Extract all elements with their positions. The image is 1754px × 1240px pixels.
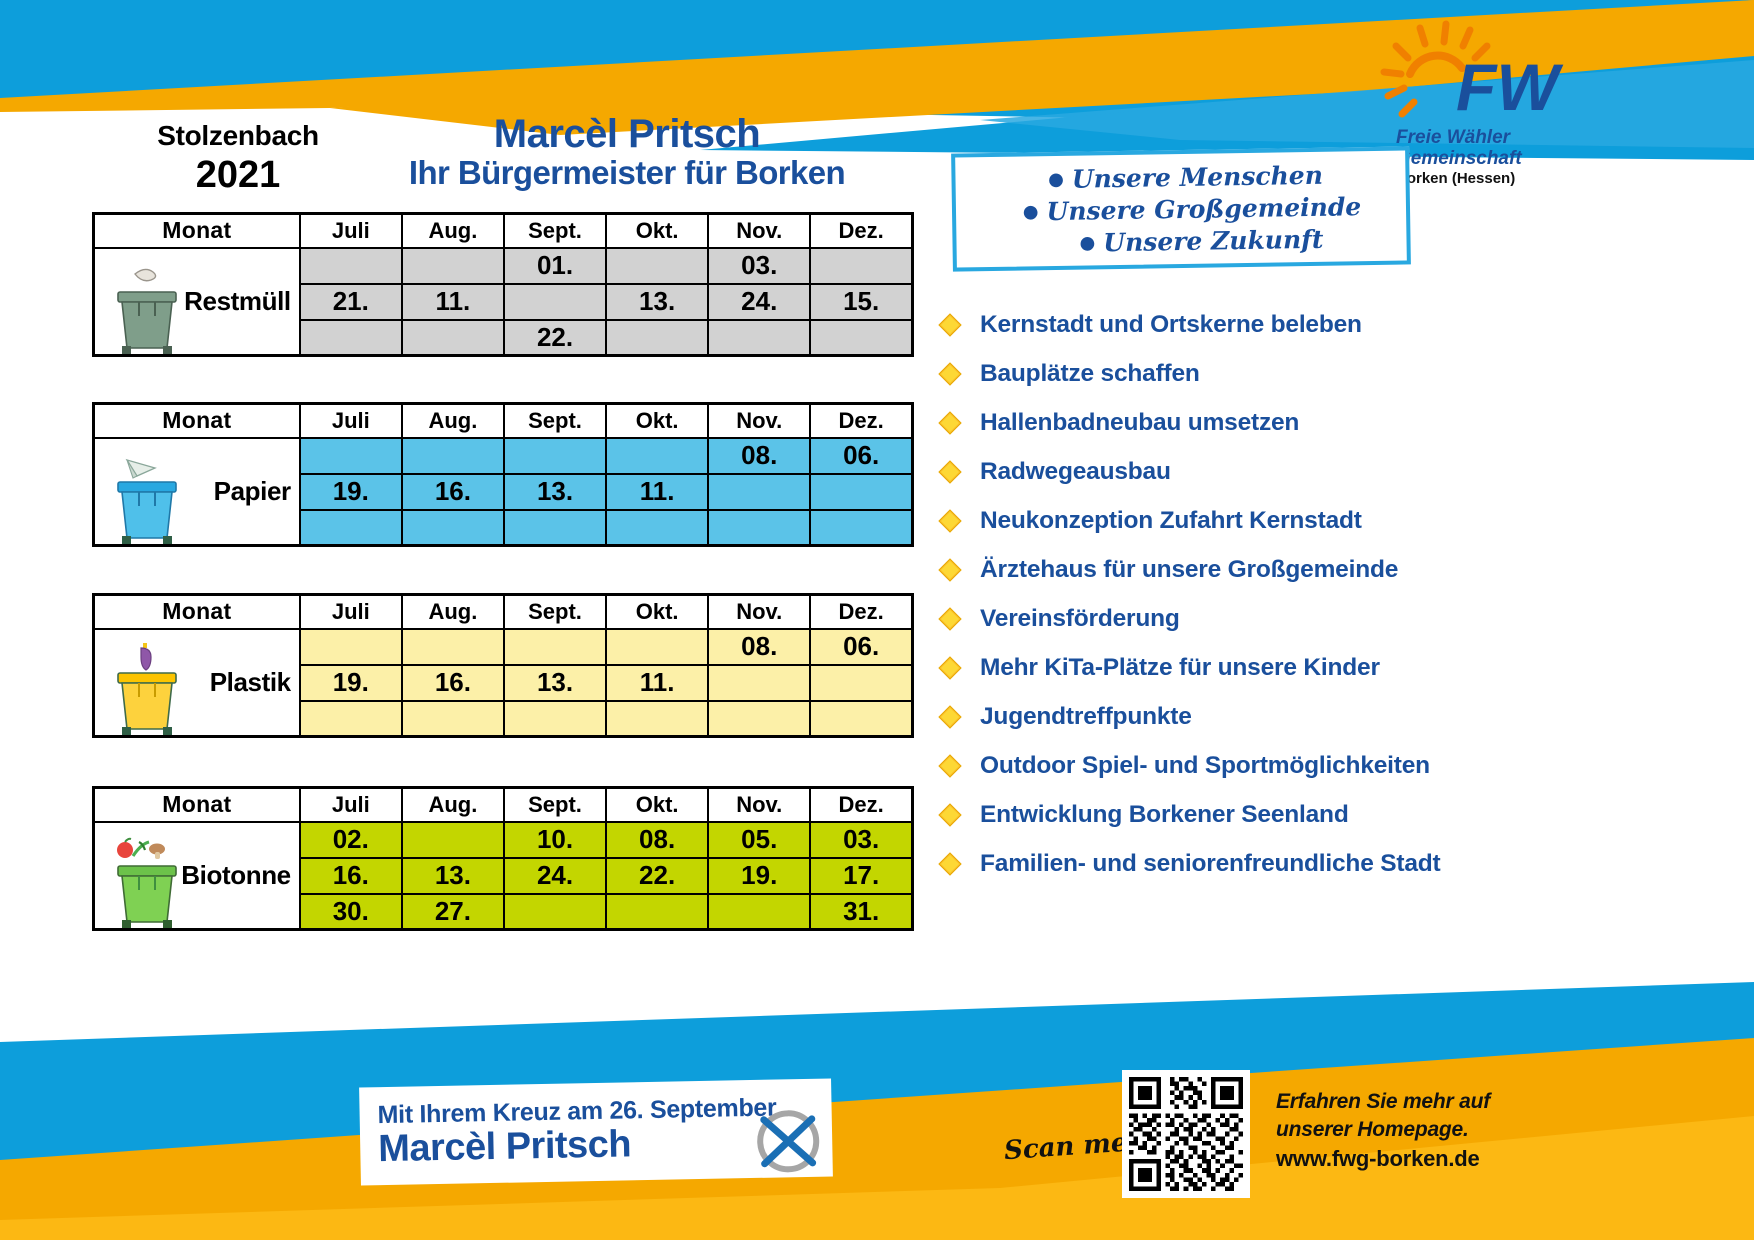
city-name: Stolzenbach [108,120,368,152]
pickup-date-cell: 16. [402,474,504,510]
pickup-date-cell [606,438,708,474]
column-header-monat: Monat [94,214,300,248]
column-header-juli: Juli [300,595,402,629]
waste-table-biotonne: MonatJuliAug.Sept.Okt.Nov.Dez. Biotonne0… [92,786,914,931]
calendar-year: 2021 [108,154,368,197]
pickup-date-cell [402,248,504,284]
column-header-aug: Aug. [402,788,504,822]
diamond-bullet-icon [938,509,962,533]
diamond-bullet-icon [938,558,962,582]
pickup-date-cell [402,701,504,737]
pickup-date-cell: 06. [810,629,912,665]
waste-type-label: Biotonne [181,860,290,890]
fw-line-2: Gemeinschaft [1396,149,1576,170]
vote-callout-box: Mit Ihrem Kreuz am 26. September Marcèl … [359,1078,833,1185]
pickup-date-cell: 13. [504,474,606,510]
goal-label: Vereinsförderung [980,605,1180,633]
goal-label: Mehr KiTa-Plätze für unsere Kinder [980,654,1380,682]
table-header-row: MonatJuliAug.Sept.Okt.Nov.Dez. [94,595,913,629]
column-header-okt: Okt. [606,788,708,822]
pickup-date-cell [606,320,708,356]
diamond-bullet-icon [938,803,962,827]
pickup-date-cell: 16. [300,858,402,894]
poster-page: FW Freie Wähler Gemeinschaft Borken (Hes… [0,0,1754,1240]
pickup-date-cell: 13. [606,284,708,320]
pickup-date-cell: 15. [810,284,912,320]
pickup-date-cell: 03. [708,248,810,284]
fw-logo-subtitle: Freie Wähler Gemeinschaft Borken (Hessen… [1396,128,1576,187]
pickup-date-cell: 11. [402,284,504,320]
goal-item: Bauplätze schaffen [938,349,1728,398]
column-header-dez: Dez. [810,788,912,822]
goal-item: Outdoor Spiel- und Sportmöglichkeiten [938,741,1728,790]
pickup-date-cell [300,438,402,474]
goal-label: Bauplätze schaffen [980,360,1200,388]
waste-table-plastik: MonatJuliAug.Sept.Okt.Nov.Dez. Plastik08… [92,593,914,738]
pickup-date-cell [606,629,708,665]
pickup-date-cell [402,510,504,546]
goal-label: Hallenbadneubau umsetzen [980,409,1299,437]
waste-type-cell-papier: Papier [94,438,300,546]
waste-type-label: Papier [214,476,291,506]
table-header-row: MonatJuliAug.Sept.Okt.Nov.Dez. [94,404,913,438]
pickup-date-cell [504,894,606,930]
bottom-decoration [0,920,1754,1240]
pickup-date-cell [504,629,606,665]
fw-monogram: FW [1456,50,1563,124]
candidate-subtitle: Ihr Bürgermeister für Borken [332,154,922,192]
papier-bin-icon [105,446,191,546]
pickup-date-cell: 03. [810,822,912,858]
waste-type-cell-plastik: Plastik [94,629,300,737]
diamond-bullet-icon [938,656,962,680]
column-header-sept: Sept. [504,214,606,248]
city-block: Stolzenbach 2021 [108,120,368,197]
pickup-date-cell [606,894,708,930]
pickup-date-cell: 08. [606,822,708,858]
ballot-cross-icon [752,1105,825,1178]
goal-item: Radwegeausbau [938,447,1728,496]
homepage-line-1: Erfahren Sie mehr auf [1276,1088,1576,1116]
pickup-date-cell [708,701,810,737]
pickup-date-cell [810,474,912,510]
biotonne-bin-icon [105,830,191,930]
candidate-name: Marcèl Pritsch [332,112,922,157]
plastik-bin-icon [105,637,191,737]
pickup-date-cell [606,248,708,284]
pickup-date-cell: 27. [402,894,504,930]
pickup-date-cell: 08. [708,629,810,665]
goal-item: Ärztehaus für unsere Großgemeinde [938,545,1728,594]
pickup-date-cell [504,701,606,737]
pickup-date-cell: 16. [402,665,504,701]
pickup-date-cell [810,248,912,284]
pickup-date-cell: 30. [300,894,402,930]
goal-item: Kernstadt und Ortskerne beleben [938,300,1728,349]
diamond-bullet-icon [938,852,962,876]
column-header-monat: Monat [94,404,300,438]
pickup-date-cell: 17. [810,858,912,894]
goal-label: Jugendtreffpunkte [980,703,1192,731]
diamond-bullet-icon [938,705,962,729]
bullet-dot-icon: ● [1023,201,1039,222]
pickup-date-cell [708,320,810,356]
table-header-row: MonatJuliAug.Sept.Okt.Nov.Dez. [94,214,913,248]
papier-bin-icon [105,446,191,546]
pickup-date-cell: 11. [606,665,708,701]
column-header-okt: Okt. [606,404,708,438]
pickup-date-cell [504,510,606,546]
slogan-text-3: Unsere Zukunft [1103,225,1324,257]
table-row: Papier08.06. [94,438,913,474]
column-header-nov: Nov. [708,404,810,438]
slogan-text-2: Unsere Großgemeinde [1046,192,1361,226]
pickup-date-cell [300,629,402,665]
goal-label: Radwegeausbau [980,458,1171,486]
column-header-juli: Juli [300,788,402,822]
pickup-date-cell: 13. [402,858,504,894]
pickup-date-cell: 24. [504,858,606,894]
pickup-date-cell [504,438,606,474]
goal-label: Entwicklung Borkener Seenland [980,801,1349,829]
column-header-sept: Sept. [504,788,606,822]
goal-label: Neukonzeption Zufahrt Kernstadt [980,507,1362,535]
goal-item: Neukonzeption Zufahrt Kernstadt [938,496,1728,545]
pickup-date-cell [810,665,912,701]
goal-label: Kernstadt und Ortskerne beleben [980,311,1362,339]
column-header-juli: Juli [300,214,402,248]
slogan-box: ●Unsere Menschen ●Unsere Großgemeinde ●U… [951,146,1411,271]
fw-line-1: Freie Wähler [1396,128,1576,149]
pickup-date-cell [708,510,810,546]
waste-table-papier: MonatJuliAug.Sept.Okt.Nov.Dez. Papier08.… [92,402,914,547]
pickup-date-cell: 22. [504,320,606,356]
goal-label: Ärztehaus für unsere Großgemeinde [980,556,1398,584]
plastik-bin-icon [105,637,191,737]
slogan-text-1: Unsere Menschen [1072,161,1323,194]
pickup-date-cell: 21. [300,284,402,320]
waste-type-label: Restmüll [184,286,291,316]
goal-item: Entwicklung Borkener Seenland [938,790,1728,839]
pickup-date-cell [300,701,402,737]
pickup-date-cell [300,510,402,546]
bullet-dot-icon: ● [1048,169,1064,190]
pickup-date-cell [504,284,606,320]
pickup-date-cell: 19. [300,665,402,701]
scan-me-label: Scan me [1003,1128,1128,1167]
diamond-bullet-icon [938,313,962,337]
pickup-date-cell [402,822,504,858]
goals-list: Kernstadt und Ortskerne belebenBauplätze… [938,300,1728,888]
goal-item: Vereinsförderung [938,594,1728,643]
column-header-dez: Dez. [810,595,912,629]
pickup-date-cell: 19. [300,474,402,510]
table-row: Restmüll01.03. [94,248,913,284]
vote-candidate-name: Marcèl Pritsch [378,1121,778,1172]
goal-item: Familien- und seniorenfreundliche Stadt [938,839,1728,888]
pickup-date-cell: 08. [708,438,810,474]
table-row: Biotonne02.10.08.05.03. [94,822,913,858]
pickup-date-cell [708,665,810,701]
homepage-url[interactable]: www.fwg-borken.de [1276,1144,1576,1173]
homepage-line-2: unserer Homepage. [1276,1116,1576,1144]
pickup-date-cell [810,320,912,356]
goal-label: Familien- und seniorenfreundliche Stadt [980,850,1440,878]
pickup-date-cell [810,701,912,737]
column-header-nov: Nov. [708,595,810,629]
pickup-date-cell [300,248,402,284]
pickup-date-cell [606,701,708,737]
pickup-date-cell [708,474,810,510]
column-header-nov: Nov. [708,214,810,248]
pickup-date-cell: 11. [606,474,708,510]
column-header-nov: Nov. [708,788,810,822]
column-header-aug: Aug. [402,595,504,629]
pickup-date-cell: 10. [504,822,606,858]
pickup-date-cell [402,320,504,356]
waste-type-cell-restmuell: Restmüll [94,248,300,356]
diamond-bullet-icon [938,460,962,484]
pickup-date-cell: 02. [300,822,402,858]
column-header-monat: Monat [94,595,300,629]
pickup-date-cell: 19. [708,858,810,894]
diamond-bullet-icon [938,607,962,631]
column-header-okt: Okt. [606,214,708,248]
column-header-juli: Juli [300,404,402,438]
restmuell-bin-icon [105,256,191,356]
goal-label: Outdoor Spiel- und Sportmöglichkeiten [980,752,1430,780]
candidate-block: Marcèl Pritsch Ihr Bürgermeister für Bor… [332,112,922,192]
column-header-sept: Sept. [504,595,606,629]
column-header-dez: Dez. [810,214,912,248]
goal-item: Mehr KiTa-Plätze für unsere Kinder [938,643,1728,692]
pickup-date-cell [402,629,504,665]
goal-item: Hallenbadneubau umsetzen [938,398,1728,447]
restmuell-bin-icon [105,256,191,356]
column-header-aug: Aug. [402,214,504,248]
pickup-date-cell: 05. [708,822,810,858]
bullet-dot-icon: ● [1079,232,1095,253]
diamond-bullet-icon [938,411,962,435]
pickup-date-cell: 06. [810,438,912,474]
biotonne-bin-icon [105,830,191,930]
diamond-bullet-icon [938,362,962,386]
pickup-date-cell [606,510,708,546]
pickup-date-cell: 24. [708,284,810,320]
column-header-sept: Sept. [504,404,606,438]
column-header-dez: Dez. [810,404,912,438]
goal-item: Jugendtreffpunkte [938,692,1728,741]
pickup-date-cell: 13. [504,665,606,701]
pickup-date-cell [810,510,912,546]
waste-type-label: Plastik [210,667,291,697]
column-header-okt: Okt. [606,595,708,629]
table-row: Plastik08.06. [94,629,913,665]
waste-type-cell-biotonne: Biotonne [94,822,300,930]
pickup-date-cell [402,438,504,474]
pickup-date-cell: 01. [504,248,606,284]
pickup-date-cell [300,320,402,356]
homepage-info: Erfahren Sie mehr auf unserer Homepage. … [1276,1088,1576,1173]
pickup-date-cell [708,894,810,930]
qr-code-image [1129,1077,1243,1191]
column-header-monat: Monat [94,788,300,822]
column-header-aug: Aug. [402,404,504,438]
pickup-date-cell: 31. [810,894,912,930]
pickup-date-cell: 22. [606,858,708,894]
table-header-row: MonatJuliAug.Sept.Okt.Nov.Dez. [94,788,913,822]
fw-line-3: Borken (Hessen) [1396,170,1576,187]
diamond-bullet-icon [938,754,962,778]
waste-table-restmuell: MonatJuliAug.Sept.Okt.Nov.Dez. Restmüll0… [92,212,914,357]
qr-code[interactable] [1122,1070,1250,1198]
